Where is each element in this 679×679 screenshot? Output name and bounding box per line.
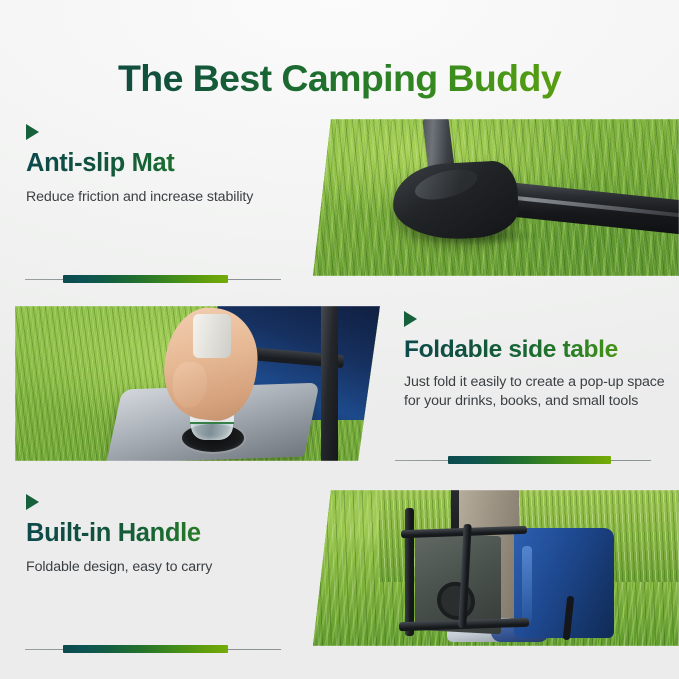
feature-image-foldable-side-table [15,306,380,461]
divider-gradient-bar [448,456,611,464]
section-divider [25,644,281,654]
feature-copy-anti-slip-mat: Anti-slip Mat Reduce friction and increa… [26,124,316,206]
section-divider [25,274,281,284]
play-triangle-icon [404,311,417,327]
play-triangle-icon [26,124,39,140]
chair-post [321,306,338,461]
feature-description: Just fold it easily to create a pop-up s… [404,373,674,409]
section-divider [395,455,651,465]
feature-image-built-in-handle [309,490,679,646]
feature-copy-built-in-handle: Built-in Handle Foldable design, easy to… [26,494,316,576]
feature-description: Reduce friction and increase stability [26,188,316,206]
divider-gradient-bar [63,645,228,653]
feature-description: Foldable design, easy to carry [26,558,316,576]
feature-image-anti-slip-mat [309,119,679,276]
divider-gradient-bar [63,275,228,283]
bottle-neck [193,314,231,358]
feature-title: Foldable side table [404,336,674,364]
product-feature-page: The Best Camping Buddy Anti-slip Mat Red… [0,0,679,679]
chair-frame-vertical [405,508,414,636]
page-title: The Best Camping Buddy [0,55,679,102]
feature-block-foldable-side-table: Foldable side table Just fold it easily … [0,295,679,475]
feature-title: Anti-slip Mat [26,149,316,179]
feature-copy-foldable-side-table: Foldable side table Just fold it easily … [404,311,674,410]
feature-block-anti-slip-mat: Anti-slip Mat Reduce friction and increa… [0,108,679,288]
feature-block-built-in-handle: Built-in Handle Foldable design, easy to… [0,478,679,658]
feature-title: Built-in Handle [26,519,316,549]
play-triangle-icon [26,494,39,510]
